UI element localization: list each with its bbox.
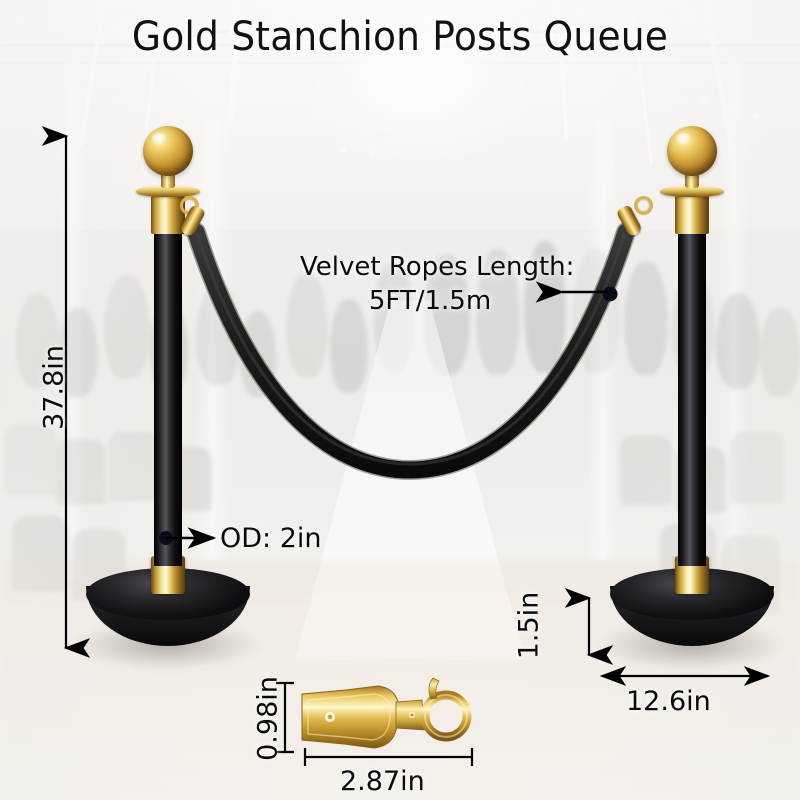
snap-hook-clip-illustration [300,672,475,764]
ball-finial-right [667,126,717,176]
callout-rope-length-line1: Velvet Ropes Length: [300,250,560,284]
pole-right [678,226,706,566]
callout-rope-length-line2: 5FT/1.5m [300,284,560,318]
dimension-clip-length: 2.87in [340,766,425,797]
dimension-post-height: 37.8in [39,328,70,448]
rope-hook-right [634,196,653,215]
collar-right [675,196,709,234]
product-infographic: Gold Stanchion Posts Queue [0,0,800,800]
dimension-clip-height: 0.98in [253,664,284,774]
dimension-post-diameter: OD: 2in [220,523,322,554]
ball-finial-left [143,126,193,176]
page-title: Gold Stanchion Posts Queue [24,14,776,60]
dimension-base-diameter: 12.6in [626,686,711,717]
pole-left [154,226,182,566]
dimension-base-height: 1.5in [514,571,545,681]
